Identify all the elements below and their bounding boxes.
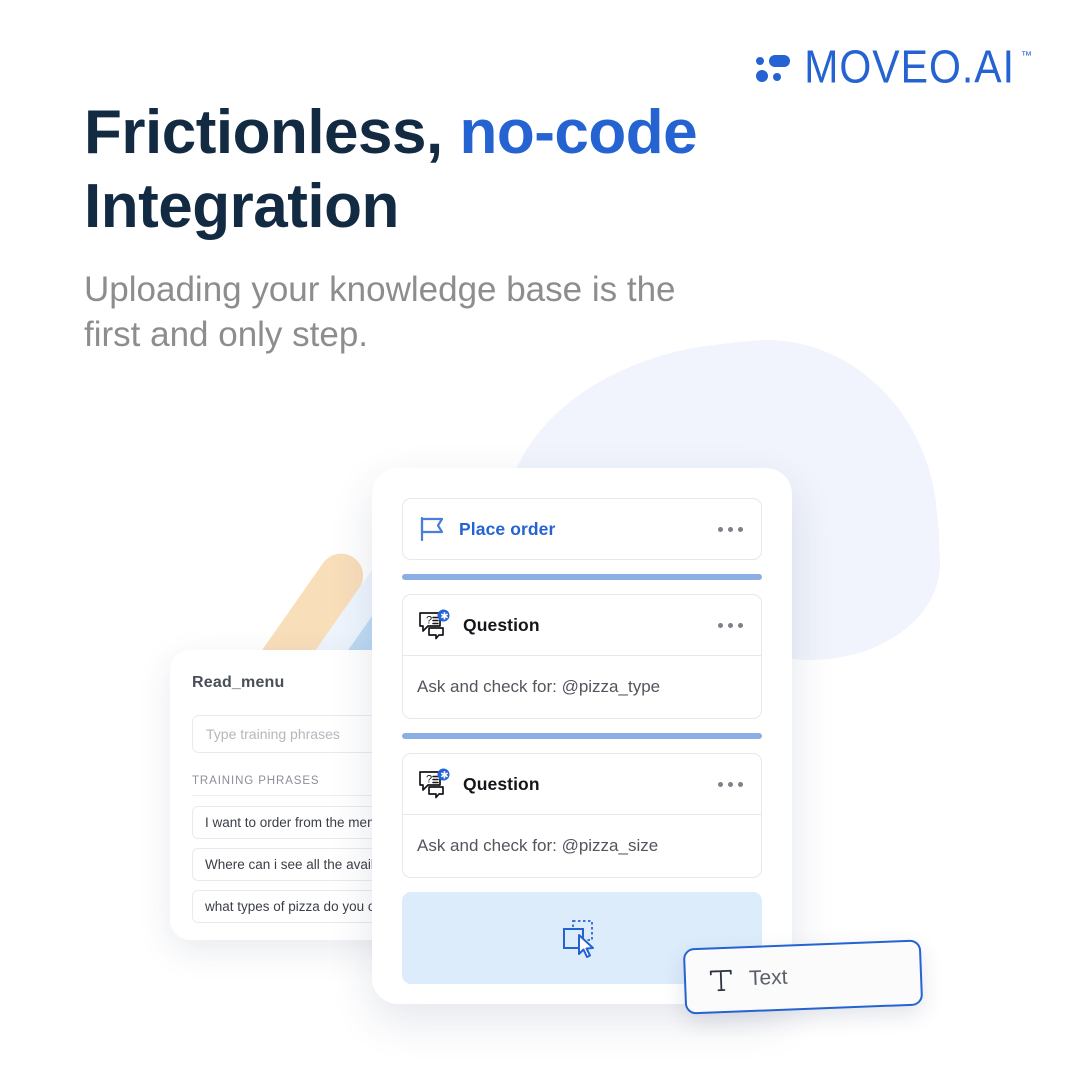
page-title: Frictionless, no-code Integration xyxy=(84,96,844,245)
svg-text:✱: ✱ xyxy=(440,770,448,781)
headline-part-1: Frictionless, xyxy=(84,98,443,167)
moveo-dots-icon xyxy=(756,54,790,82)
dialog-flow-card: Place order ? ✱ Question xyxy=(372,468,792,1004)
headline-part-2: Integration xyxy=(84,172,399,241)
flow-node-header: ? ✱ Question xyxy=(403,754,761,814)
brand-wordmark: MOVEO.AI xyxy=(804,41,1015,94)
flow-node-title: Place order xyxy=(459,519,706,540)
text-t-icon xyxy=(708,966,735,995)
flow-node-title: Question xyxy=(463,774,706,795)
question-bubble-icon: ? ✱ xyxy=(417,609,451,641)
more-options-icon[interactable] xyxy=(718,782,747,787)
flow-connector xyxy=(402,733,762,739)
flow-node-header: ? ✱ Question xyxy=(403,595,761,655)
svg-text:?: ? xyxy=(426,615,432,627)
svg-text:?: ? xyxy=(426,774,432,786)
svg-text:✱: ✱ xyxy=(440,611,448,622)
more-options-icon[interactable] xyxy=(718,527,747,532)
flow-node-question-pizza-size[interactable]: ? ✱ Question Ask and check for: @pizza_s… xyxy=(402,753,762,878)
flow-node-place-order[interactable]: Place order xyxy=(402,498,762,560)
trademark-symbol: ™ xyxy=(1021,50,1032,62)
headline-accent: no-code xyxy=(459,98,697,167)
flow-node-body: Ask and check for: @pizza_size xyxy=(403,814,761,877)
flow-connector xyxy=(402,574,762,580)
brand-logo: MOVEO.AI ™ xyxy=(756,44,1032,91)
question-bubble-icon: ? ✱ xyxy=(417,768,451,800)
flow-node-body: Ask and check for: @pizza_type xyxy=(403,655,761,718)
flag-icon xyxy=(417,515,447,543)
drag-drop-cursor-icon xyxy=(559,916,605,960)
text-block-chip[interactable]: Text xyxy=(683,939,923,1014)
training-phrase-placeholder: Type training phrases xyxy=(206,726,340,742)
page-subtitle: Uploading your knowledge base is the fir… xyxy=(84,268,724,358)
poster-canvas: MOVEO.AI ™ Frictionless, no-code Integra… xyxy=(0,0,1080,1080)
flow-node-question-pizza-type[interactable]: ? ✱ Question Ask and check for: @pizza_t… xyxy=(402,594,762,719)
flow-node-header: Place order xyxy=(403,499,761,559)
text-block-label: Text xyxy=(749,966,788,991)
flow-node-title: Question xyxy=(463,615,706,636)
more-options-icon[interactable] xyxy=(718,623,747,628)
